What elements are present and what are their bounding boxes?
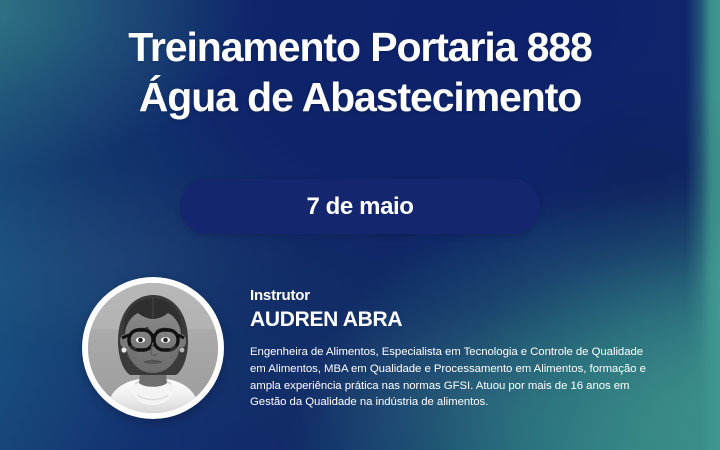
date-badge-label: 7 de maio <box>306 193 413 221</box>
instructor-role-label: Instrutor <box>250 286 655 305</box>
headline-line-2: Água de Abastecimento <box>0 72 720 122</box>
banner-headline: Treinamento Portaria 888 Água de Abastec… <box>0 22 720 122</box>
banner-content: Treinamento Portaria 888 Água de Abastec… <box>0 0 720 450</box>
instructor-info: Instrutor AUDREN ABRA Engenheira de Alim… <box>250 286 655 411</box>
date-badge[interactable]: 7 de maio <box>180 179 540 234</box>
instructor-portrait-photo-icon <box>88 283 218 413</box>
headline-line-1: Treinamento Portaria 888 <box>0 22 720 72</box>
avatar <box>82 277 224 419</box>
training-promo-banner: Treinamento Portaria 888 Água de Abastec… <box>0 0 720 450</box>
instructor-name: AUDREN ABRA <box>250 307 655 333</box>
instructor-bio: Engenheira de Alimentos, Especialista em… <box>250 344 650 411</box>
